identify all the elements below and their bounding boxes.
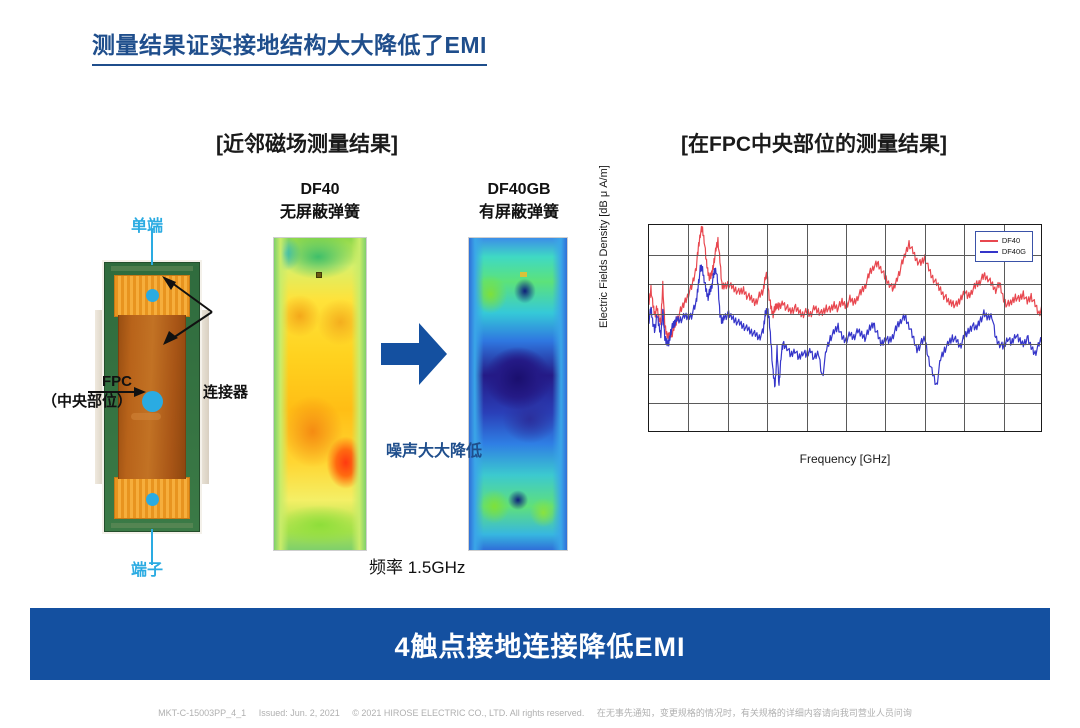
- heatmap-title-df40-line2: 无屏蔽弹簧: [255, 201, 385, 224]
- gridline-vertical: [728, 225, 729, 431]
- legend-color-swatch: [980, 240, 998, 242]
- footer-issued: Issued: Jun. 2, 2021: [259, 708, 340, 718]
- gridline-horizontal: [649, 374, 1041, 375]
- label-frequency-note: 频率 1.5GHz: [369, 553, 465, 578]
- conclusion-banner-text: 4触点接地连接降低EMI: [394, 625, 685, 664]
- chart-y-axis-label: Electric Fields Density [dB μ A/m]: [598, 165, 610, 328]
- label-connector: 连接器: [203, 383, 248, 403]
- gridline-vertical: [885, 225, 886, 431]
- gridline-vertical: [767, 225, 768, 431]
- gridline-horizontal: [649, 314, 1041, 315]
- gridline-vertical: [846, 225, 847, 431]
- heatmap-title-df40gb: DF40GB 有屏蔽弹簧: [450, 178, 588, 224]
- chart-x-axis-label: Frequency [GHz]: [648, 452, 1042, 466]
- legend-color-swatch: [980, 251, 998, 253]
- heatmap-df40-edges: [274, 238, 366, 550]
- chart-legend: DF40DF40G: [975, 231, 1033, 262]
- fpc-pointer-arrow-icon: [88, 384, 148, 400]
- legend-item: DF40: [980, 235, 1026, 246]
- conclusion-banner: 4触点接地连接降低EMI: [30, 608, 1050, 680]
- footer-copyright: © 2021 HIROSE ELECTRIC CO., LTD. All rig…: [352, 708, 584, 718]
- gridline-vertical: [688, 225, 689, 431]
- left-section-heading: [近邻磁场测量结果]: [216, 128, 398, 158]
- legend-label: DF40G: [1002, 246, 1026, 257]
- heatmap-df40gb-marker: [520, 272, 527, 277]
- connector-pointer-arrow-icon: [160, 274, 216, 352]
- gridline-horizontal: [649, 403, 1041, 404]
- heatmap-title-df40: DF40 无屏蔽弹簧: [255, 178, 385, 224]
- heatmap-df40-marker: [316, 272, 322, 278]
- right-section-heading: [在FPC中央部位的测量结果]: [681, 128, 947, 158]
- label-noise-reduction: 噪声大大降低: [386, 437, 482, 461]
- legend-item: DF40G: [980, 246, 1026, 257]
- gridline-horizontal: [649, 284, 1041, 285]
- heatmap-title-df40gb-line1: DF40GB: [450, 178, 588, 201]
- page-title: 测量结果证实接地结构大大降低了EMI: [92, 26, 487, 66]
- footer: MKT-C-15003PP_4_1 Issued: Jun. 2, 2021 ©…: [0, 706, 1080, 719]
- heatmap-df40gb: [468, 237, 568, 551]
- chart-plot-area: 30405060708090100 00.20.40.60.811.21.41.…: [648, 224, 1042, 432]
- footer-notice: 在无事先通知，变更规格的情况时，有关规格的详细内容请向我司营业人员问询: [597, 708, 912, 718]
- label-terminal: 端子: [131, 556, 163, 580]
- gridline-vertical: [807, 225, 808, 431]
- footer-doc-id: MKT-C-15003PP_4_1: [158, 708, 246, 718]
- gridline-vertical: [925, 225, 926, 431]
- improvement-arrow-icon: [381, 323, 447, 385]
- legend-label: DF40: [1002, 235, 1020, 246]
- slide-root: 测量结果证实接地结构大大降低了EMI [近邻磁场测量结果] [在FPC中央部位的…: [0, 0, 1080, 728]
- heatmap-df40gb-edges: [469, 238, 567, 550]
- heatmap-title-df40gb-line2: 有屏蔽弹簧: [450, 201, 588, 224]
- gridline-horizontal: [649, 344, 1041, 345]
- probe-dot-bottom: [146, 493, 159, 506]
- emi-chart: Electric Fields Density [dB μ A/m] 30405…: [604, 214, 1052, 480]
- heatmap-title-df40-line1: DF40: [255, 178, 385, 201]
- gridline-vertical: [964, 225, 965, 431]
- heatmap-df40: [273, 237, 367, 551]
- label-single-end: 单端: [131, 212, 163, 236]
- probe-dot-top: [146, 289, 159, 302]
